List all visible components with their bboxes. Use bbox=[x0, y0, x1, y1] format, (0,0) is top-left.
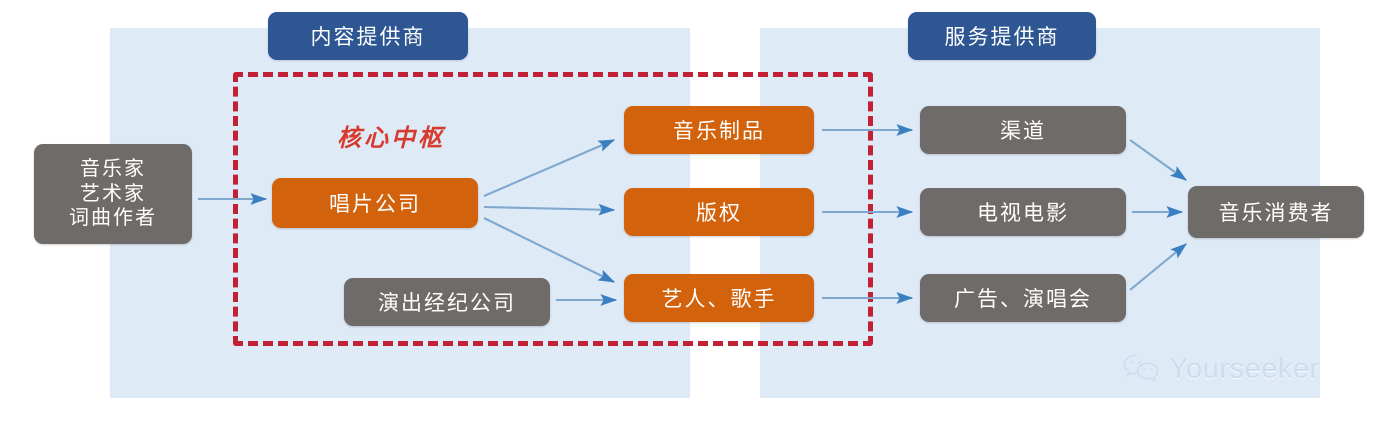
node-creators-line-1: 音乐家 bbox=[80, 157, 146, 181]
node-artists-singers: 艺人、歌手 bbox=[624, 274, 814, 322]
node-creators-line-3: 词曲作者 bbox=[69, 206, 157, 230]
node-creators-line-2: 艺术家 bbox=[80, 182, 146, 206]
badge-service-provider: 服务提供商 bbox=[908, 12, 1096, 60]
node-music-product: 音乐制品 bbox=[624, 106, 814, 154]
watermark: Yourseeker bbox=[1122, 352, 1320, 387]
badge-content-provider: 内容提供商 bbox=[268, 12, 468, 60]
core-hub-label: 核心中枢 bbox=[337, 118, 445, 153]
node-performance-agency: 演出经纪公司 bbox=[344, 278, 550, 326]
watermark-text: Yourseeker bbox=[1169, 353, 1320, 386]
diagram-canvas: 内容提供商 服务提供商 核心中枢 bbox=[0, 0, 1397, 427]
wechat-icon bbox=[1122, 352, 1160, 387]
node-music-consumers: 音乐消费者 bbox=[1188, 186, 1364, 238]
node-record-company: 唱片公司 bbox=[272, 178, 478, 228]
node-channel: 渠道 bbox=[920, 106, 1126, 154]
node-tv-film: 电视电影 bbox=[920, 188, 1126, 236]
node-creators: 音乐家 艺术家 词曲作者 bbox=[34, 144, 192, 244]
node-copyright: 版权 bbox=[624, 188, 814, 236]
node-ads-concerts: 广告、演唱会 bbox=[920, 274, 1126, 322]
